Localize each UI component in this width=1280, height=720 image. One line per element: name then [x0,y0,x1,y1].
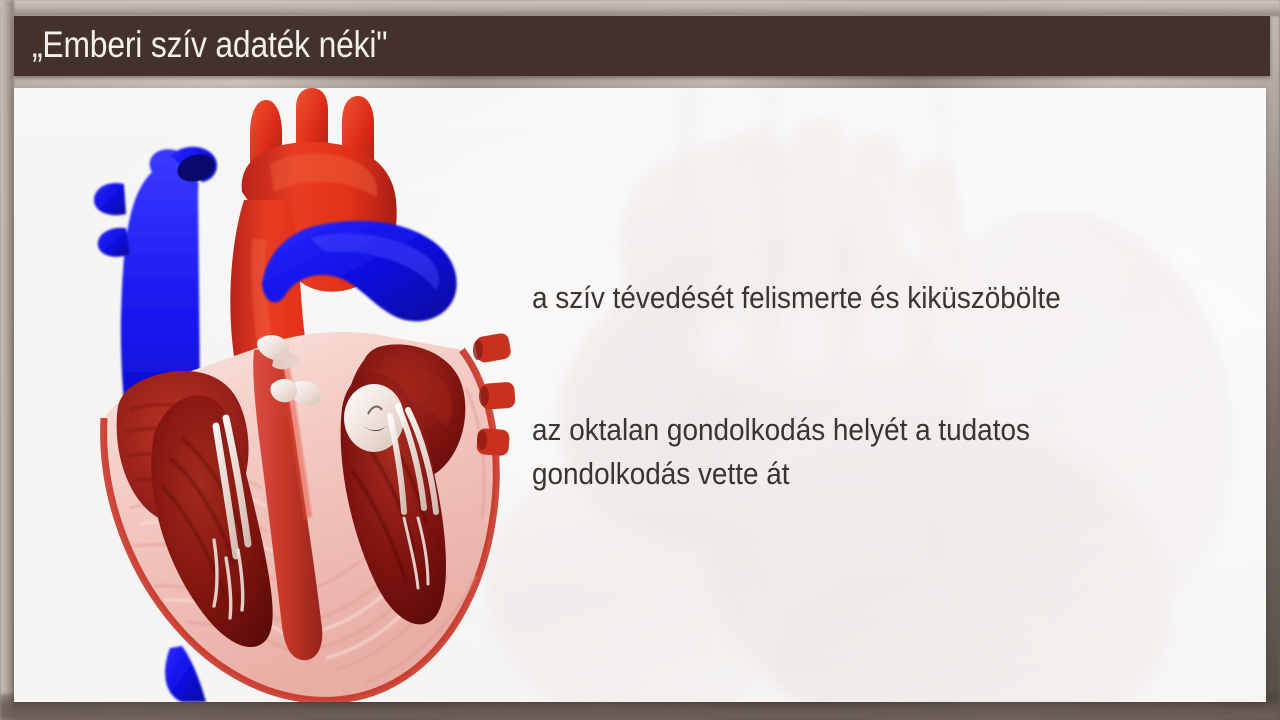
body-paragraph-2-line-2: gondolkodás vette át [532,452,1085,496]
body-paragraph-2: az oktalan gondolkodás helyét a tudatos … [532,408,1085,496]
heart-illustration [74,88,554,702]
slide-title: „Emberi szív adaték néki" [32,24,445,66]
body-paragraph-2-line-1: az oktalan gondolkodás helyét a tudatos [532,408,1085,452]
frame-top-edge [0,0,1280,16]
content-panel: a szív tévedését felismerte és kiküszöbö… [14,88,1266,702]
slide: „Emberi szív adaték néki" [0,0,1280,720]
frame-left-edge [0,0,14,720]
body-line-1: a szív tévedését felismerte és kiküszöbö… [532,276,1120,320]
title-bar: „Emberi szív adaték néki" [14,16,1270,76]
slide-title-text: „Emberi szív adaték néki" [32,24,387,66]
hand-finger-shape [848,133,914,366]
inferior-vena-cava [165,646,206,702]
